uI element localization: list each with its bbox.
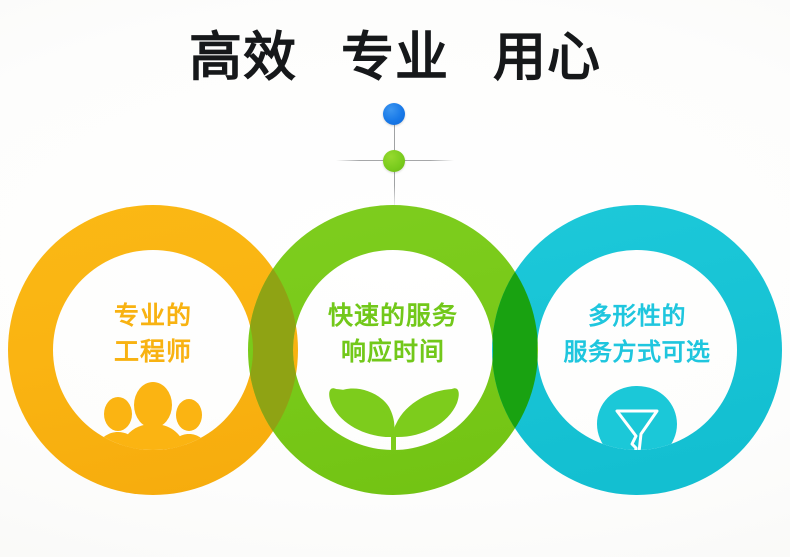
- infographic-canvas: 高效专业用心: [0, 0, 790, 557]
- overlap-green-cyan: [0, 0, 790, 557]
- venn-diagram: [0, 0, 790, 557]
